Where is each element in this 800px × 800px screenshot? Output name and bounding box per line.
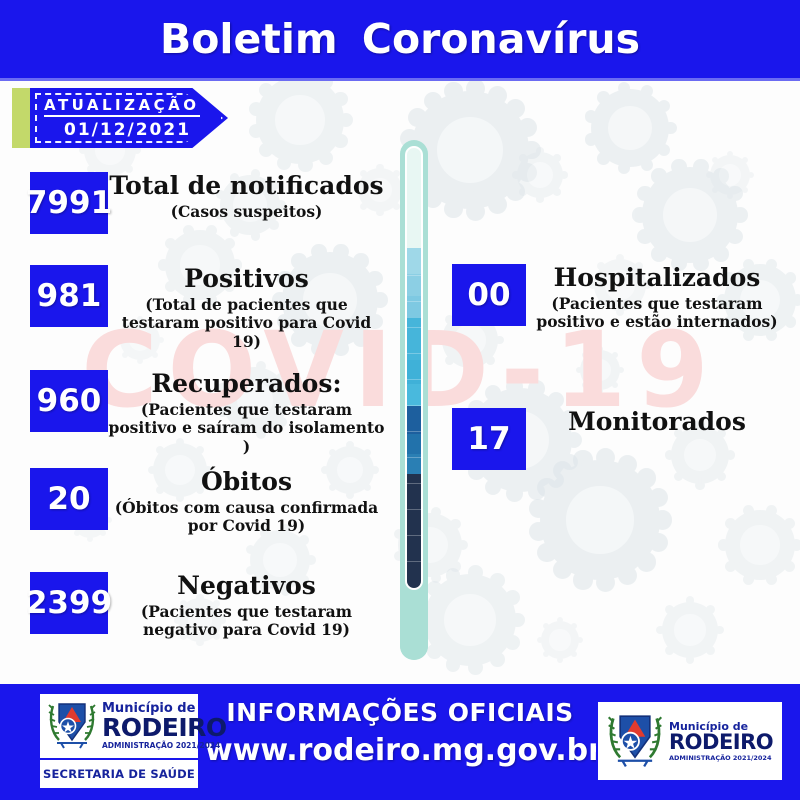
stat-row-hospitalizados: 00 Hospitalizados (Pacientes que testara…: [452, 264, 788, 332]
stat-value-positivos: 981: [30, 265, 108, 327]
update-banner: ATUALIZAÇÃO 01/12/2021: [12, 88, 228, 148]
virus-particle-icon: [256, 76, 344, 164]
virus-particle-icon: [725, 510, 795, 580]
logo-secretaria-saude: Município de RODEIRO ADMINISTRAÇÃO 2021/…: [38, 692, 200, 790]
stat-title-positivos: Positivos: [108, 265, 385, 293]
footer-text-block: INFORMAÇÕES OFICIAIS www.rodeiro.mg.gov.…: [205, 698, 595, 768]
stat-subtitle-recuperados: (Pacientes que testaram positivo e saíra…: [108, 401, 385, 458]
stat-value-recuperados: 960: [30, 370, 108, 432]
stat-row-positivos: 981 Positivos (Total de pacientes que te…: [30, 265, 385, 352]
stat-title-negativos: Negativos: [108, 572, 385, 600]
virus-particle-icon: [642, 167, 738, 263]
logo-left-wordmark: Município de RODEIRO ADMINISTRAÇÃO 2021/…: [99, 702, 227, 750]
stat-subtitle-hospitalizados: (Pacientes que testaram positivo e estão…: [526, 295, 788, 333]
stat-title-recuperados: Recuperados:: [108, 370, 385, 398]
virus-particle-icon: [591, 89, 669, 167]
stat-text-positivos: Positivos (Total de pacientes que testar…: [108, 265, 385, 352]
virus-particle-icon: [662, 602, 718, 658]
logo-right-wordmark: Município de RODEIRO ADMINISTRAÇÃO 2021/…: [666, 721, 782, 762]
header-bar: Boletim Coronavírus: [0, 0, 800, 78]
update-banner-arrow: ATUALIZAÇÃO 01/12/2021: [30, 88, 228, 148]
footer-official-info: INFORMAÇÕES OFICIAIS: [205, 698, 595, 727]
rodeiro-coat-of-arms-icon-right: [604, 707, 666, 776]
virus-particle-icon: [424, 574, 516, 666]
stat-title-total-notificados: Total de notificados: [108, 172, 385, 200]
footer-website-url[interactable]: www.rodeiro.mg.gov.br: [205, 733, 595, 768]
logo-right-rodeiro-text: RODEIRO: [669, 732, 782, 753]
stat-title-obitos: Óbitos: [108, 468, 385, 496]
virus-particle-icon: [541, 621, 579, 659]
virus-particle-icon: [540, 460, 660, 580]
stat-value-hospitalizados: 00: [452, 264, 526, 326]
stat-value-total-notificados: 7991: [30, 172, 108, 234]
stat-subtitle-positivos: (Total de pacientes que testaram positiv…: [108, 296, 385, 353]
stat-subtitle-obitos: (Óbitos com causa confirmada por Covid 1…: [108, 499, 385, 537]
header-divider: [0, 78, 800, 81]
update-banner-accent: [12, 88, 30, 148]
poster-root: COVID-19 Boletim Coronavírus ATUALIZAÇÃO…: [0, 0, 800, 800]
stat-text-recuperados: Recuperados: (Pacientes que testaram pos…: [108, 370, 385, 457]
logo-right-admin-text: ADMINISTRAÇÃO 2021/2024: [669, 755, 782, 762]
stat-text-negativos: Negativos (Pacientes que testaram negati…: [108, 572, 385, 640]
stat-subtitle-total-notificados: (Casos suspeitos): [108, 203, 385, 222]
virus-particle-icon: [517, 152, 563, 198]
stat-row-negativos: 2399 Negativos (Pacientes que testaram n…: [30, 572, 385, 640]
stat-row-obitos: 20 Óbitos (Óbitos com causa confirmada p…: [30, 468, 385, 536]
stat-value-negativos: 2399: [30, 572, 108, 634]
stat-text-hospitalizados: Hospitalizados (Pacientes que testaram p…: [526, 264, 788, 332]
stat-text-monitorados: Monitorados: [526, 394, 788, 439]
stat-row-monitorados: 17 Monitorados: [452, 394, 788, 470]
thermometer-tube: [405, 146, 423, 590]
logo-left-secretaria-row: SECRETARIA DE SAÚDE: [40, 760, 198, 788]
virus-particle-icon: [710, 155, 750, 195]
thermometer-graphic: [400, 140, 428, 660]
update-label: ATUALIZAÇÃO: [44, 96, 200, 117]
stat-row-total-notificados: 7991 Total de notificados (Casos suspeit…: [30, 172, 385, 234]
stat-title-hospitalizados: Hospitalizados: [526, 264, 788, 292]
update-date: 01/12/2021: [64, 120, 191, 140]
stat-value-monitorados: 17: [452, 408, 526, 470]
logo-municipio-rodeiro: Município de RODEIRO ADMINISTRAÇÃO 2021/…: [596, 700, 784, 782]
stat-value-obitos: 20: [30, 468, 108, 530]
secretaria-saude-text: SECRETARIA DE SAÚDE: [43, 767, 195, 781]
virus-particle-icon: [411, 91, 529, 209]
stat-text-obitos: Óbitos (Óbitos com causa confirmada por …: [108, 468, 385, 536]
thermometer-bulb: [400, 590, 428, 660]
stat-title-monitorados: Monitorados: [526, 408, 788, 436]
logo-left-admin-text: ADMINISTRAÇÃO 2021/2024: [102, 742, 227, 750]
thermometer-fill: [407, 248, 421, 588]
logo-left-crest-row: Município de RODEIRO ADMINISTRAÇÃO 2021/…: [40, 694, 198, 760]
stat-subtitle-negativos: (Pacientes que testaram negativo para Co…: [108, 603, 385, 641]
stat-text-total-notificados: Total de notificados (Casos suspeitos): [108, 172, 385, 221]
page-title: Boletim Coronavírus: [160, 15, 640, 63]
stat-row-recuperados: 960 Recuperados: (Pacientes que testaram…: [30, 370, 385, 457]
logo-left-rodeiro-text: RODEIRO: [102, 715, 227, 740]
rodeiro-coat-of-arms-icon: [45, 696, 99, 757]
